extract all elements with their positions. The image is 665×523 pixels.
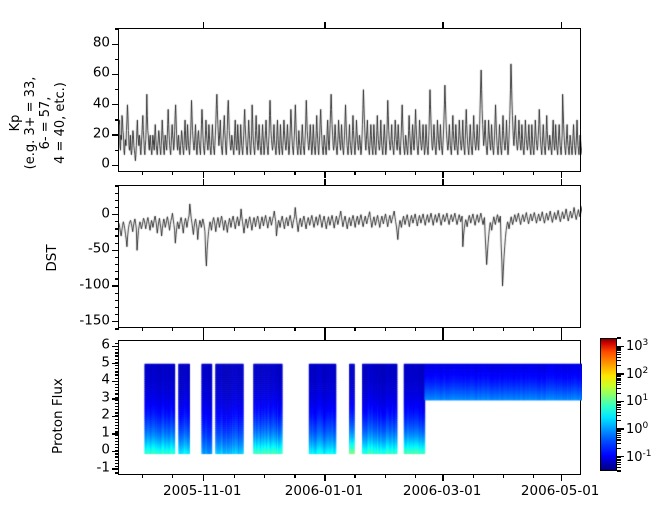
colorbar-tick-minor xyxy=(617,460,621,461)
y-tick-major xyxy=(112,74,119,75)
space-weather-figure: Kp (e.g. 3+ = 33, 6- = 57, 4 = 40, etc.)… xyxy=(0,0,665,523)
x-tick-minor xyxy=(172,171,173,175)
y-tick-minor xyxy=(115,447,119,448)
y-tick-label: 1 xyxy=(101,426,110,440)
x-tick-major xyxy=(203,327,204,334)
colorbar-tick-label: 102 xyxy=(626,366,648,382)
y-tick-minor xyxy=(115,403,119,404)
colorbar-tick-minor xyxy=(617,457,621,458)
x-tick-minor xyxy=(415,327,416,331)
colorbar-tick-minor xyxy=(617,439,621,440)
y-tick-minor xyxy=(115,387,119,388)
y-tick-minor xyxy=(115,466,119,467)
x-tick-minor xyxy=(142,327,143,331)
y-tick-minor xyxy=(115,384,119,385)
colorbar-tick-minor xyxy=(617,360,621,361)
y-tick-minor xyxy=(115,307,119,308)
y-tick-label: 20 xyxy=(93,127,110,141)
y-tick-minor xyxy=(115,434,119,435)
y-tick-minor xyxy=(115,328,119,329)
colorbar xyxy=(600,338,617,471)
y-tick-minor xyxy=(115,314,119,315)
y-tick-minor xyxy=(115,409,119,410)
x-tick-major-top xyxy=(324,334,325,341)
y-tick-minor xyxy=(115,400,119,401)
y-tick-major xyxy=(112,250,119,251)
colorbar-tick-minor xyxy=(617,433,621,434)
x-tick-minor xyxy=(264,327,265,331)
y-tick-minor xyxy=(115,243,119,244)
x-tick-major xyxy=(203,171,204,178)
y-tick-minor xyxy=(115,425,119,426)
y-tick-minor xyxy=(115,221,119,222)
x-tick-label: 2006-01-01 xyxy=(285,485,363,499)
y-tick-minor xyxy=(115,346,119,347)
flux-axis-title: Proton Flux xyxy=(50,376,66,456)
x-tick-minor xyxy=(294,474,295,478)
panel-proton-flux xyxy=(118,340,581,475)
y-tick-label: 60 xyxy=(93,67,110,81)
x-tick-minor xyxy=(142,171,143,175)
y-tick-minor xyxy=(115,343,119,344)
colorbar-tick-minor xyxy=(617,388,621,389)
y-tick-minor xyxy=(115,119,119,120)
colorbar-tick-minor xyxy=(617,375,621,376)
y-tick-minor xyxy=(115,441,119,442)
x-tick-minor xyxy=(354,171,355,175)
colorbar-tick-minor xyxy=(617,384,621,385)
kp-title-line-0: Kp xyxy=(8,43,23,203)
x-tick-minor xyxy=(385,327,386,331)
x-tick-major xyxy=(203,474,204,481)
y-tick-label: 3 xyxy=(101,391,110,405)
x-tick-major xyxy=(442,327,443,334)
colorbar-tick-minor xyxy=(617,348,621,349)
x-tick-minor xyxy=(354,327,355,331)
x-tick-major-top xyxy=(203,22,204,29)
y-tick-minor xyxy=(115,193,119,194)
y-tick-major xyxy=(112,44,119,45)
x-tick-label: 2005-11-01 xyxy=(163,485,241,499)
x-tick-major-top xyxy=(203,334,204,341)
y-tick-label: -50 xyxy=(88,243,110,257)
x-tick-minor xyxy=(533,474,534,478)
x-tick-major xyxy=(324,327,325,334)
x-tick-major-top xyxy=(442,179,443,186)
x-tick-minor xyxy=(264,171,265,175)
x-tick-major-top xyxy=(324,179,325,186)
x-tick-minor xyxy=(533,171,534,175)
colorbar-tick-minor xyxy=(617,382,621,383)
y-tick-minor xyxy=(115,365,119,366)
x-tick-major-top xyxy=(561,179,562,186)
kp-title-line-2: 6- = 57, xyxy=(38,43,53,203)
y-tick-label: -150 xyxy=(79,314,110,328)
colorbar-tick-minor xyxy=(617,393,621,394)
x-tick-minor xyxy=(234,171,235,175)
y-tick-minor xyxy=(115,89,119,90)
y-tick-minor xyxy=(115,257,119,258)
kp-title-line-3: 4 = 40, etc.) xyxy=(53,43,68,203)
dst-trace xyxy=(119,186,582,329)
y-tick-minor xyxy=(115,390,119,391)
colorbar-tick-minor xyxy=(617,354,621,355)
x-tick-minor xyxy=(415,474,416,478)
y-tick-minor xyxy=(115,278,119,279)
y-tick-minor xyxy=(115,472,119,473)
colorbar-tick-minor xyxy=(617,415,621,416)
x-tick-minor xyxy=(385,474,386,478)
x-tick-label: 2006-03-01 xyxy=(403,485,481,499)
y-tick-minor xyxy=(115,438,119,439)
x-tick-minor xyxy=(385,171,386,175)
y-tick-minor xyxy=(115,460,119,461)
colorbar-tick-minor xyxy=(617,347,621,348)
colorbar-tick-minor xyxy=(617,412,621,413)
proton-flux-heatmap xyxy=(119,341,582,476)
y-tick-minor xyxy=(115,469,119,470)
y-tick-label: 0 xyxy=(101,207,110,221)
y-tick-major xyxy=(112,321,119,322)
y-tick-major xyxy=(112,134,119,135)
y-tick-minor xyxy=(115,355,119,356)
x-tick-major-top xyxy=(442,22,443,29)
y-tick-minor xyxy=(115,415,119,416)
y-tick-major xyxy=(112,104,119,105)
x-tick-major xyxy=(561,474,562,481)
colorbar-tick-minor xyxy=(617,470,621,471)
y-tick-minor xyxy=(115,371,119,372)
y-tick-minor xyxy=(115,300,119,301)
kp-axis-title: Kp (e.g. 3+ = 33, 6- = 57, 4 = 40, etc.) xyxy=(8,43,68,203)
colorbar-tick-minor xyxy=(617,462,621,463)
y-tick-minor xyxy=(115,463,119,464)
x-tick-minor xyxy=(503,171,504,175)
x-tick-minor xyxy=(172,327,173,331)
colorbar-tick-minor xyxy=(617,402,621,403)
colorbar-tick-minor xyxy=(617,443,621,444)
x-tick-minor xyxy=(354,474,355,478)
colorbar-tick-minor xyxy=(617,448,621,449)
colorbar-tick-minor xyxy=(617,357,621,358)
y-tick-minor xyxy=(115,374,119,375)
kp-title-line-1: (e.g. 3+ = 33, xyxy=(23,43,38,203)
colorbar-tick-minor xyxy=(617,379,621,380)
y-tick-label: 6 xyxy=(101,339,110,353)
y-tick-minor xyxy=(115,349,119,350)
colorbar-tick-label: 100 xyxy=(626,421,648,437)
y-tick-label: 4 xyxy=(101,374,110,388)
x-tick-major-top xyxy=(324,22,325,29)
y-tick-major xyxy=(112,214,119,215)
x-tick-minor xyxy=(503,327,504,331)
y-tick-minor xyxy=(115,150,119,151)
x-tick-minor xyxy=(473,327,474,331)
colorbar-tick-minor xyxy=(617,352,621,353)
x-tick-minor xyxy=(142,474,143,478)
x-tick-minor xyxy=(294,327,295,331)
y-tick-minor xyxy=(115,393,119,394)
y-tick-label: -100 xyxy=(79,278,110,292)
y-tick-label: 40 xyxy=(93,97,110,111)
y-tick-label: -1 xyxy=(97,461,110,475)
colorbar-tick-minor xyxy=(617,407,621,408)
dst-axis-title: DST xyxy=(44,238,60,278)
colorbar-tick-minor xyxy=(617,435,621,436)
y-tick-label: 80 xyxy=(93,36,110,50)
y-tick-label: 5 xyxy=(101,356,110,370)
colorbar-tick-minor xyxy=(617,459,621,460)
colorbar-tick-minor xyxy=(617,467,621,468)
y-tick-minor xyxy=(115,352,119,353)
x-tick-major-top xyxy=(203,179,204,186)
colorbar-tick-minor xyxy=(617,409,621,410)
colorbar-tick-minor xyxy=(617,464,621,465)
y-tick-minor xyxy=(115,28,119,29)
y-tick-label: 0 xyxy=(101,444,110,458)
y-tick-minor xyxy=(115,59,119,60)
x-tick-minor xyxy=(473,171,474,175)
y-tick-minor xyxy=(115,207,119,208)
y-tick-minor xyxy=(115,200,119,201)
y-tick-minor xyxy=(115,359,119,360)
y-tick-minor xyxy=(115,228,119,229)
x-tick-minor xyxy=(533,327,534,331)
x-tick-minor xyxy=(172,474,173,478)
y-tick-label: 2 xyxy=(101,409,110,423)
colorbar-tick-minor xyxy=(617,430,621,431)
y-tick-major xyxy=(112,285,119,286)
y-tick-label: 0 xyxy=(101,158,110,172)
y-tick-minor xyxy=(115,419,119,420)
colorbar-tick-minor xyxy=(617,378,621,379)
y-tick-minor xyxy=(115,185,119,186)
y-tick-minor xyxy=(115,271,119,272)
x-tick-label: 2006-05-01 xyxy=(521,485,599,499)
colorbar-tick-minor xyxy=(617,376,621,377)
colorbar-tick-minor xyxy=(617,365,621,366)
x-tick-major-top xyxy=(561,334,562,341)
y-tick-minor xyxy=(115,381,119,382)
panel-kp xyxy=(118,28,581,172)
x-tick-minor xyxy=(415,171,416,175)
y-tick-minor xyxy=(115,450,119,451)
colorbar-tick-label: 103 xyxy=(626,338,648,354)
kp-trace xyxy=(119,29,582,173)
y-tick-minor xyxy=(115,378,119,379)
y-tick-minor xyxy=(115,406,119,407)
x-tick-major xyxy=(561,171,562,178)
x-tick-major xyxy=(561,327,562,334)
y-tick-minor xyxy=(115,397,119,398)
y-tick-minor xyxy=(115,362,119,363)
colorbar-tick-label: 10-1 xyxy=(626,448,652,464)
x-tick-minor xyxy=(264,474,265,478)
y-tick-major xyxy=(112,165,119,166)
x-tick-minor xyxy=(234,327,235,331)
y-tick-minor xyxy=(115,293,119,294)
colorbar-tick-minor xyxy=(617,350,621,351)
x-tick-major xyxy=(324,171,325,178)
colorbar-tick-minor xyxy=(617,405,621,406)
x-tick-minor xyxy=(234,474,235,478)
x-tick-minor xyxy=(473,474,474,478)
colorbar-tick-minor xyxy=(617,437,621,438)
y-tick-minor xyxy=(115,444,119,445)
colorbar-tick-label: 101 xyxy=(626,393,648,409)
y-tick-minor xyxy=(115,412,119,413)
x-tick-major-top xyxy=(442,334,443,341)
x-tick-major xyxy=(324,474,325,481)
y-tick-minor xyxy=(115,456,119,457)
colorbar-tick-minor xyxy=(617,420,621,421)
panel-dst xyxy=(118,185,581,328)
colorbar-tick-minor xyxy=(617,337,621,338)
y-tick-minor xyxy=(115,422,119,423)
y-tick-minor xyxy=(115,368,119,369)
y-tick-minor xyxy=(115,431,119,432)
y-tick-minor xyxy=(115,235,119,236)
x-tick-minor xyxy=(503,474,504,478)
x-tick-minor xyxy=(294,171,295,175)
y-tick-minor xyxy=(115,264,119,265)
x-tick-major xyxy=(442,474,443,481)
x-tick-major xyxy=(442,171,443,178)
colorbar-tick-minor xyxy=(617,404,621,405)
y-tick-minor xyxy=(115,453,119,454)
y-tick-minor xyxy=(115,428,119,429)
colorbar-tick-minor xyxy=(617,431,621,432)
x-tick-major-top xyxy=(561,22,562,29)
